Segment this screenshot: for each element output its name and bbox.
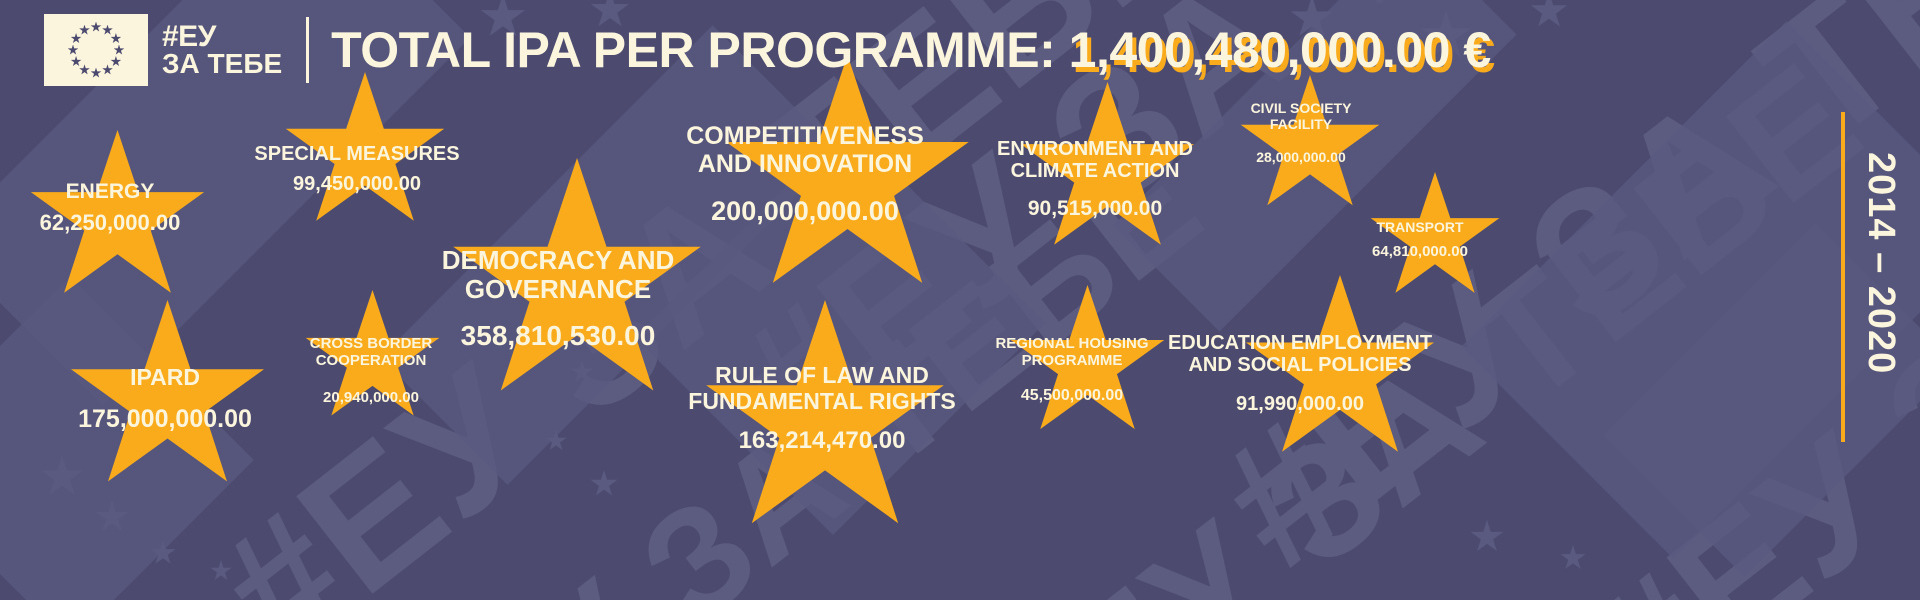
programme-label-line: GOVERNANCE	[442, 275, 675, 304]
programme-value: 28,000,000.00	[1256, 149, 1346, 165]
programme-label: REGIONAL HOUSINGPROGRAMME	[995, 336, 1148, 370]
watermark-star	[150, 540, 176, 566]
eu-flag-star	[79, 25, 90, 36]
eu-flag-star	[110, 56, 121, 67]
programme-label-line: DEMOCRACY AND	[442, 246, 675, 275]
infographic-canvas: #ЕУ ЗА ТЕБЕ#ЕУ ЗА ТЕБЕ#ЕУ ЗА ТЕБЕ#ЕУ ЗА …	[0, 0, 1920, 600]
programme-value: 358,810,530.00	[461, 320, 656, 352]
programme-value: 20,940,000.00	[323, 389, 419, 406]
programme-label-line: ENVIRONMENT AND	[997, 138, 1193, 160]
title-total-amount: 1,400,480,000.00 €	[1069, 22, 1491, 78]
brand-logotype: #ЕУ ЗА ТЕБЕ	[162, 23, 282, 77]
programme-value: 62,250,000.00	[40, 210, 181, 236]
eu-flag-star	[91, 68, 102, 79]
programme-value: 175,000,000.00	[78, 405, 252, 434]
eu-flag-star	[110, 33, 121, 44]
programme-value: 99,450,000.00	[293, 173, 421, 196]
eu-flag-star	[68, 45, 79, 56]
programme-label: CIVIL SOCIETYFACILITY	[1251, 101, 1352, 132]
programme-value: 163,214,470.00	[739, 427, 906, 455]
watermark-star	[545, 430, 567, 452]
programme-label: DEMOCRACY ANDGOVERNANCE	[442, 246, 675, 304]
header-divider	[306, 17, 309, 83]
programme-label-line: AND SOCIAL POLICIES	[1168, 354, 1432, 376]
programme-label: RULE OF LAW ANDFUNDAMENTAL RIGHTS	[688, 363, 955, 415]
programme-label-line: CROSS BORDER	[310, 336, 433, 353]
page-title: TOTAL IPA PER PROGRAMME: 1,400,480,000.0…	[331, 21, 1491, 79]
programme-value: 64,810,000.00	[1372, 243, 1468, 260]
watermark-star	[1470, 520, 1504, 554]
watermark-star	[40, 455, 84, 499]
programme-value: 90,515,000.00	[1028, 197, 1162, 221]
star-icon	[70, 300, 265, 495]
brand-line-2: ЗА ТЕБЕ	[162, 51, 282, 77]
programme-label: ENERGY	[66, 180, 155, 204]
programme-value: 45,500,000.00	[1021, 387, 1123, 405]
programme-label-line: REGIONAL HOUSING	[995, 336, 1148, 353]
eu-flag-star	[71, 56, 82, 67]
programme-value: 200,000,000.00	[711, 196, 899, 227]
period-label: 2014 – 2020	[1859, 152, 1902, 374]
brand-line-1: #ЕУ	[162, 23, 282, 51]
programme-label-line: FACILITY	[1251, 117, 1352, 133]
programme-label-line: COMPETITIVENESS	[686, 122, 924, 150]
watermark-star	[95, 500, 129, 534]
star-icon	[705, 300, 945, 540]
programme-label-line: COOPERATION	[310, 353, 433, 370]
watermark-star	[210, 560, 232, 582]
eu-flag-icon	[44, 14, 148, 86]
programme-label-line: FUNDAMENTAL RIGHTS	[688, 389, 955, 415]
eu-flag-star	[102, 64, 113, 75]
header: #ЕУ ЗА ТЕБЕ TOTAL IPA PER PROGRAMME: 1,4…	[0, 0, 1920, 100]
programme-label-line: EDUCATION EMPLOYMENT	[1168, 332, 1432, 354]
eu-flag-star	[114, 45, 125, 56]
programme-label: SPECIAL MEASURES	[254, 143, 459, 165]
programme-label-line: PROGRAMME	[995, 353, 1148, 370]
eu-flag-star	[71, 33, 82, 44]
programme-label-line: AND INNOVATION	[686, 150, 924, 178]
title-prefix: TOTAL IPA PER PROGRAMME:	[331, 22, 1055, 78]
eu-flag-star	[79, 64, 90, 75]
programme-label: TRANSPORT	[1376, 220, 1463, 236]
period-rail: 2014 – 2020	[1841, 112, 1902, 442]
star-icon	[1370, 172, 1500, 302]
programme-value: 91,990,000.00	[1236, 393, 1364, 416]
programme-label: IPARD	[130, 365, 200, 391]
programme-label: COMPETITIVENESSAND INNOVATION	[686, 122, 924, 178]
programme-label-line: CIVIL SOCIETY	[1251, 101, 1352, 117]
programme-label: ENVIRONMENT ANDCLIMATE ACTION	[997, 138, 1193, 183]
programme-label: CROSS BORDERCOOPERATION	[310, 336, 433, 370]
programme-label-line: IPARD	[130, 365, 200, 391]
programme-label-line: TRANSPORT	[1376, 220, 1463, 236]
eu-flag-star	[102, 25, 113, 36]
programme-label-line: RULE OF LAW AND	[688, 363, 955, 389]
programme-label-line: ENERGY	[66, 180, 155, 204]
watermark-star	[590, 470, 618, 498]
programme-label-line: SPECIAL MEASURES	[254, 143, 459, 165]
watermark-star	[570, 360, 594, 384]
watermark-star	[1560, 545, 1586, 571]
period-rule	[1841, 112, 1845, 442]
eu-flag-star	[91, 22, 102, 33]
programme-label: EDUCATION EMPLOYMENTAND SOCIAL POLICIES	[1168, 332, 1432, 377]
programme-label-line: CLIMATE ACTION	[997, 160, 1193, 182]
